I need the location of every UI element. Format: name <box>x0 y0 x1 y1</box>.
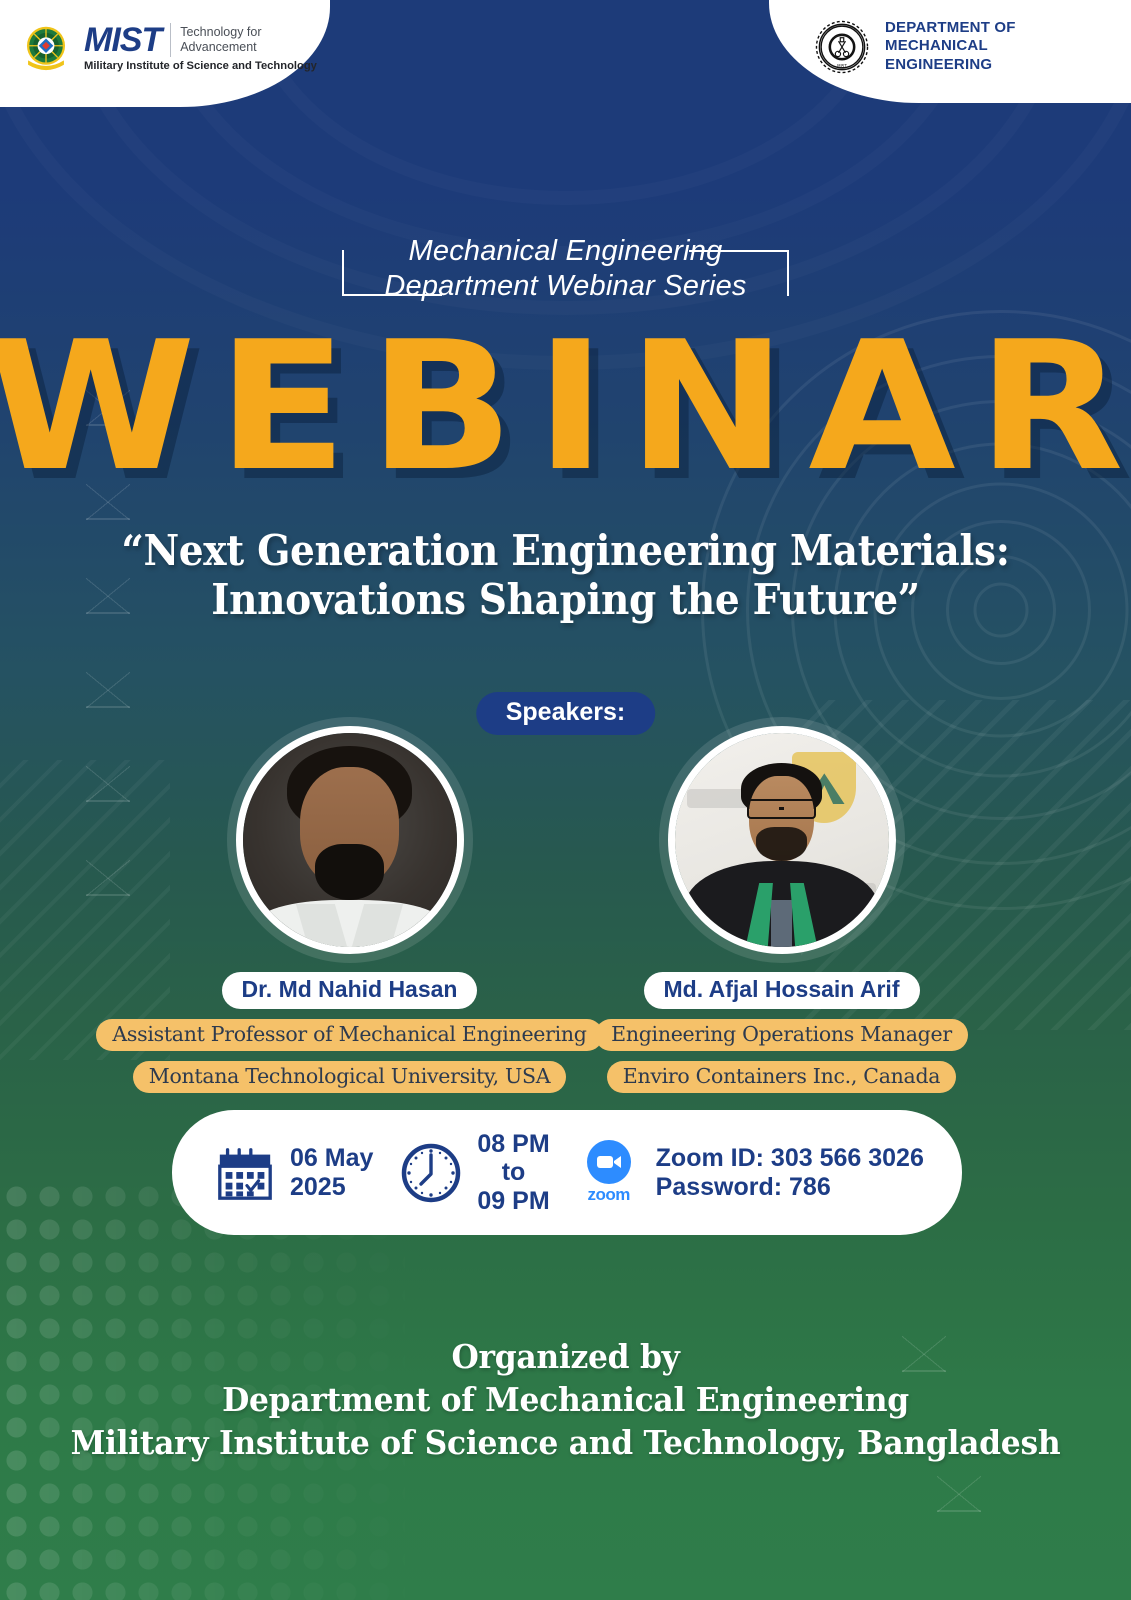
footer-line3: Military Institute of Science and Techno… <box>28 1422 1102 1465</box>
bracket-left <box>342 250 442 296</box>
mist-crest-icon <box>18 20 74 76</box>
avatar <box>236 726 464 954</box>
topic-line1: “Next Generation Engineering Materials: <box>40 527 1092 576</box>
mist-fullname: Military Institute of Science and Techno… <box>84 60 317 72</box>
topic-line2: Innovations Shaping the Future” <box>40 576 1092 625</box>
mist-logo-header: MIST Technology for Advancement Military… <box>0 0 330 107</box>
speakers-label: Speakers: <box>476 692 656 735</box>
avatar <box>668 726 896 954</box>
time-line1: 08 PM <box>477 1130 549 1159</box>
department-line2: MECHANICAL <box>885 37 1016 55</box>
date-cell: 06 May 2025 <box>214 1142 373 1204</box>
mist-wordmark: MIST <box>84 23 161 57</box>
department-line1: DEPARTMENT OF <box>885 19 1016 37</box>
footer-line1: Organized by <box>28 1336 1102 1379</box>
calendar-icon <box>214 1142 276 1204</box>
speaker-card: Dr. Md Nahid Hasan Assistant Professor o… <box>170 726 530 1093</box>
zoom-password-line: Password: 786 <box>656 1173 924 1202</box>
bracket-right <box>689 250 789 296</box>
speakers-section: Dr. Md Nahid Hasan Assistant Professor o… <box>0 726 1131 1093</box>
webinar-poster: MIST Technology for Advancement Military… <box>0 0 1131 1600</box>
mist-tagline-line2: Advancement <box>180 40 261 55</box>
mist-tagline: Technology for Advancement <box>180 25 261 55</box>
date-line1: 06 May <box>290 1144 373 1173</box>
speaker-name: Dr. Md Nahid Hasan <box>222 972 478 1009</box>
department-line3: ENGINEERING <box>885 56 1016 74</box>
zoom-id-line: Zoom ID: 303 566 3026 <box>656 1144 924 1173</box>
event-details-card: 06 May 2025 08 PM <box>172 1110 962 1235</box>
logo-divider <box>170 23 171 57</box>
mist-tagline-line1: Technology for <box>180 25 261 40</box>
zoom-camera-icon <box>587 1140 631 1184</box>
time-line3: 09 PM <box>477 1187 549 1216</box>
portrait-speaker-nahid-hasan <box>243 733 457 947</box>
svg-text:MIST: MIST <box>837 63 847 68</box>
organizer-footer: Organized by Department of Mechanical En… <box>28 1336 1102 1465</box>
time-text: 08 PM to 09 PM <box>477 1130 549 1216</box>
time-line2: to <box>477 1158 549 1187</box>
webinar-headline: WEBINAR <box>0 318 1131 496</box>
zoom-text: Zoom ID: 303 566 3026 Password: 786 <box>656 1144 924 1201</box>
zoom-wordmark: zoom <box>587 1185 629 1205</box>
speaker-name: Md. Afjal Hossain Arif <box>644 972 920 1009</box>
triangle-decoration-right <box>937 1476 981 1570</box>
mechanical-department-gear-crest-icon: MIST <box>813 18 871 76</box>
speaker-org: Enviro Containers Inc., Canada <box>607 1061 956 1093</box>
footer-line2: Department of Mechanical Engineering <box>28 1379 1102 1422</box>
time-cell: 08 PM to 09 PM <box>399 1130 549 1216</box>
department-logo-header: MIST DEPARTMENT OF MECHANICAL ENGINEERIN… <box>769 0 1131 103</box>
speaker-role: Engineering Operations Manager <box>595 1019 968 1051</box>
speaker-role: Assistant Professor of Mechanical Engine… <box>96 1019 602 1051</box>
date-line2: 2025 <box>290 1173 373 1202</box>
webinar-series-banner: Mechanical Engineering Department Webina… <box>0 228 1131 311</box>
portrait-speaker-afjal-hossain-arif <box>675 733 889 947</box>
zoom-logo: zoom <box>576 1140 642 1205</box>
clock-icon <box>399 1141 463 1205</box>
webinar-topic: “Next Generation Engineering Materials: … <box>40 527 1092 624</box>
zoom-cell: zoom Zoom ID: 303 566 3026 Password: 786 <box>576 1140 924 1205</box>
department-name: DEPARTMENT OF MECHANICAL ENGINEERING <box>885 19 1016 74</box>
speaker-card: Md. Afjal Hossain Arif Engineering Opera… <box>602 726 962 1093</box>
date-text: 06 May 2025 <box>290 1144 373 1201</box>
speaker-org: Montana Technological University, USA <box>133 1061 567 1093</box>
